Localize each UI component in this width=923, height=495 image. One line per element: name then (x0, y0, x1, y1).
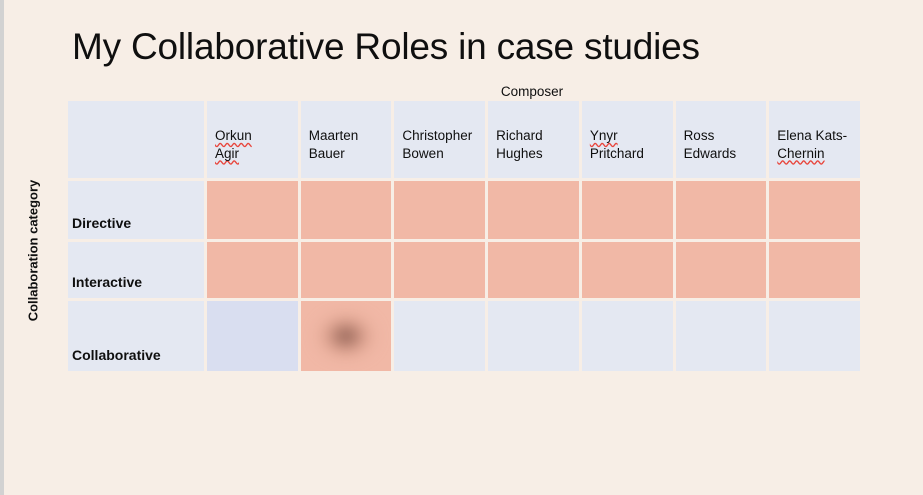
matrix-cell-collaborative-4[interactable] (582, 301, 673, 371)
column-header-1-line2: Bauer (309, 146, 345, 161)
column-header-3: Richard Hughes (488, 101, 579, 178)
matrix-cell-directive-3[interactable] (488, 181, 579, 239)
matrix-corner-cell (68, 101, 204, 178)
slide-canvas: My Collaborative Roles in case studies C… (0, 0, 923, 495)
column-header-4-line1: Ynyr (590, 128, 618, 143)
column-header-6-line1: Elena Kats- (777, 128, 847, 143)
column-header-6-line2: Chernin (777, 146, 824, 161)
column-header-3-line1: Richard (496, 128, 543, 143)
column-header-5-line1: Ross (684, 128, 715, 143)
column-header-2: Christopher Bowen (394, 101, 485, 178)
matrix-cell-interactive-5[interactable] (676, 242, 767, 298)
matrix-cell-collaborative-5[interactable] (676, 301, 767, 371)
matrix-cell-interactive-6[interactable] (769, 242, 860, 298)
column-header-6: Elena Kats- Chernin (769, 101, 860, 178)
column-header-1-line1: Maarten (309, 128, 359, 143)
column-header-2-line2: Bowen (402, 146, 443, 161)
row-axis-title-label: Collaboration category (26, 179, 41, 321)
matrix-cell-interactive-1[interactable] (301, 242, 392, 298)
matrix-cell-directive-0[interactable] (207, 181, 298, 239)
column-header-4-line2: Pritchard (590, 146, 644, 161)
page-title: My Collaborative Roles in case studies (72, 26, 700, 68)
column-header-0-line1: Orkun (215, 128, 252, 143)
column-header-0: Orkun Agir (207, 101, 298, 178)
matrix-cell-interactive-2[interactable] (394, 242, 485, 298)
row-header-collaborative: Collaborative (68, 301, 204, 371)
collaboration-matrix: Orkun Agir Maarten Bauer Christopher Bow… (68, 101, 860, 362)
matrix-cell-directive-6[interactable] (769, 181, 860, 239)
column-header-1: Maarten Bauer (301, 101, 392, 178)
blurred-redaction-overlay (301, 301, 392, 371)
column-axis-title: Composer (204, 84, 860, 99)
matrix-cell-collaborative-2[interactable] (394, 301, 485, 371)
column-header-5: Ross Edwards (676, 101, 767, 178)
matrix-cell-collaborative-6[interactable] (769, 301, 860, 371)
matrix-cell-interactive-3[interactable] (488, 242, 579, 298)
matrix-cell-collaborative-0[interactable] (207, 301, 298, 371)
matrix-cell-directive-1[interactable] (301, 181, 392, 239)
matrix-cell-collaborative-3[interactable] (488, 301, 579, 371)
column-header-3-line2: Hughes (496, 146, 543, 161)
matrix-cell-collaborative-1[interactable] (301, 301, 392, 371)
column-header-0-line2: Agir (215, 146, 239, 161)
matrix-cell-interactive-4[interactable] (582, 242, 673, 298)
matrix-cell-directive-5[interactable] (676, 181, 767, 239)
column-header-2-line1: Christopher (402, 128, 472, 143)
row-axis-title: Collaboration category (21, 160, 45, 340)
column-header-4: Ynyr Pritchard (582, 101, 673, 178)
row-header-interactive: Interactive (68, 242, 204, 298)
row-header-directive: Directive (68, 181, 204, 239)
matrix-cell-interactive-0[interactable] (207, 242, 298, 298)
column-header-5-line2: Edwards (684, 146, 737, 161)
matrix-cell-directive-4[interactable] (582, 181, 673, 239)
matrix-cell-directive-2[interactable] (394, 181, 485, 239)
